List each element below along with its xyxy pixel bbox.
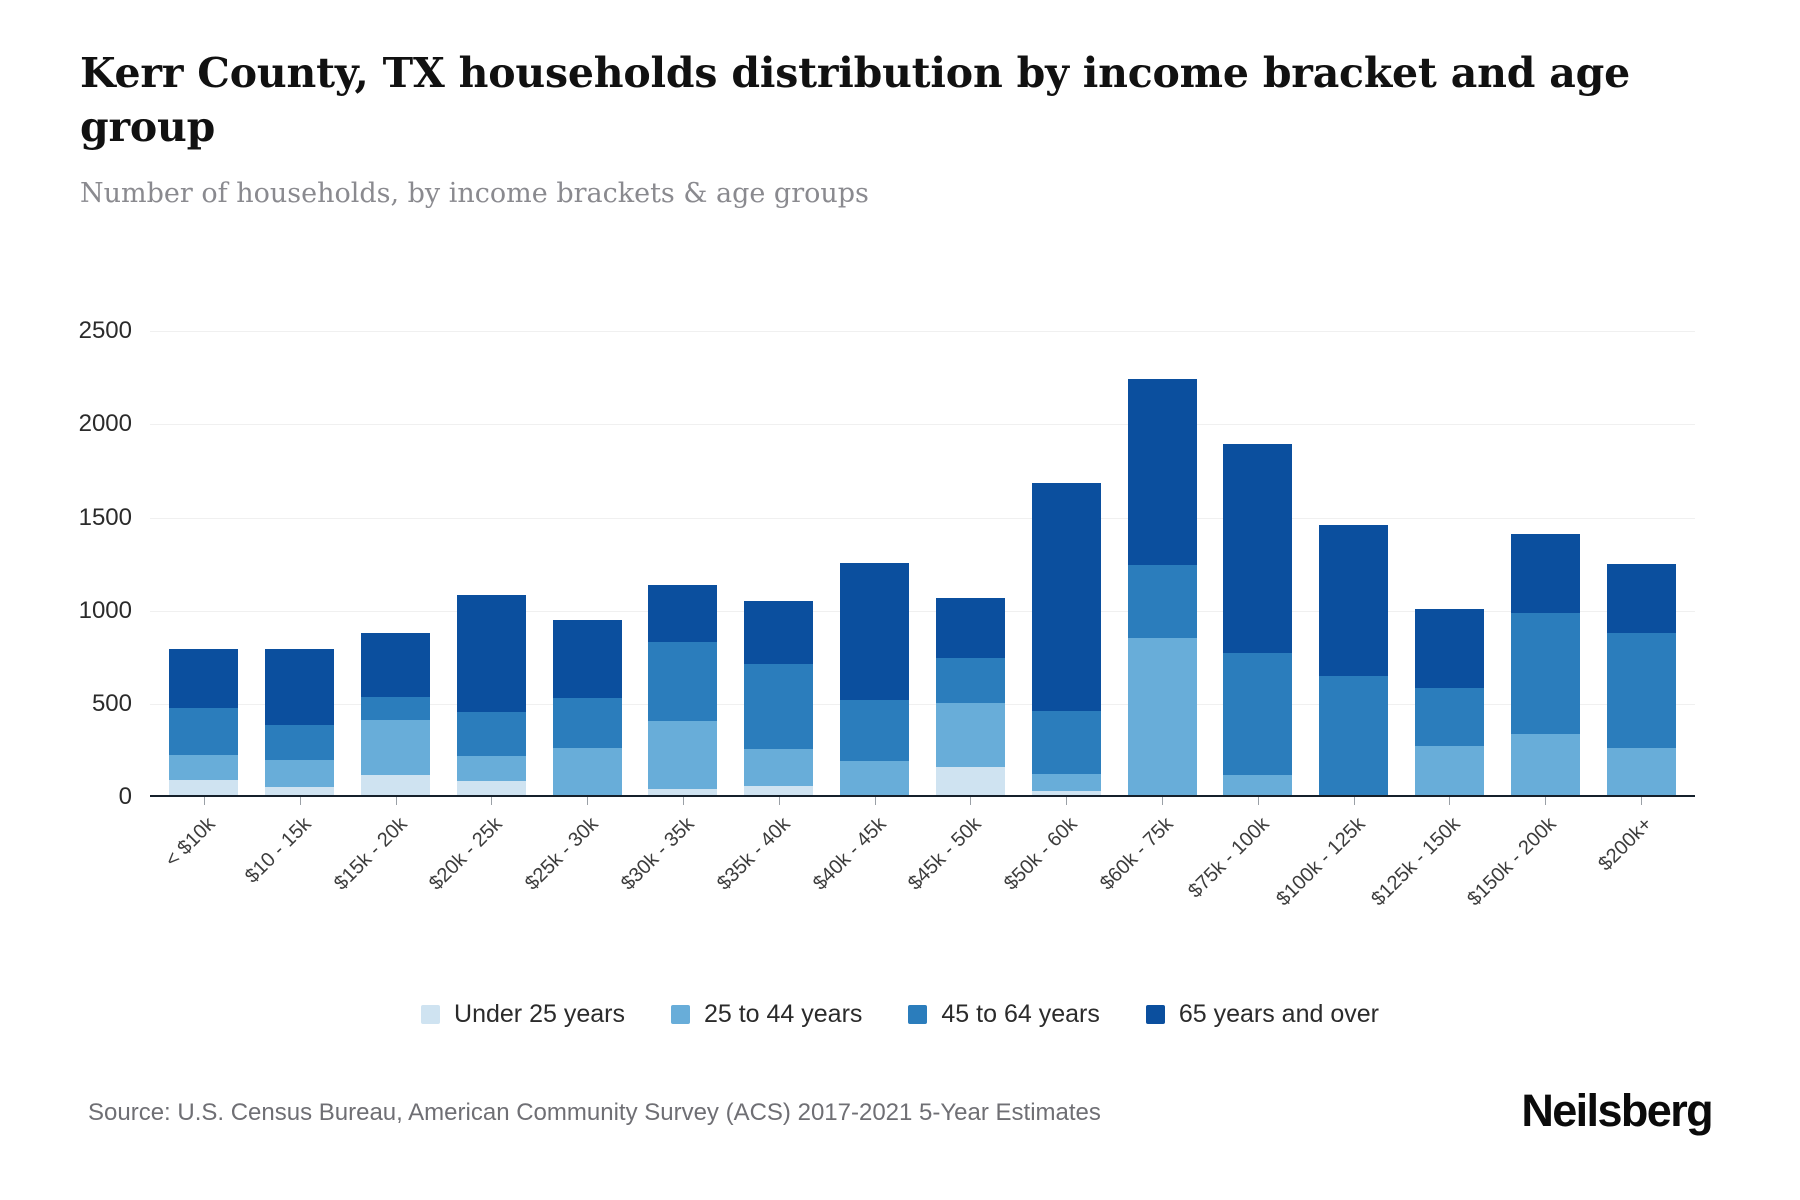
bar-group[interactable] xyxy=(1018,266,1114,795)
x-tick-mark xyxy=(1545,797,1546,805)
x-tick-mark xyxy=(1066,797,1067,805)
x-tick-mark xyxy=(970,797,971,805)
x-tick-group: $40k - 45k xyxy=(827,797,923,917)
chart-header: Kerr County, TX households distribution … xyxy=(80,46,1680,211)
bar-segment[interactable] xyxy=(1415,746,1484,795)
x-tick-mark xyxy=(1162,797,1163,805)
source-note: Source: U.S. Census Bureau, American Com… xyxy=(88,1099,1101,1127)
bar-stack xyxy=(361,633,430,795)
bar-segment[interactable] xyxy=(553,748,622,795)
x-tick-group: $10 - 15k xyxy=(252,797,348,917)
bar-group[interactable] xyxy=(1306,266,1402,795)
x-axis-tick-label: < $10k xyxy=(161,813,220,872)
bar-segment[interactable] xyxy=(1415,688,1484,746)
bar-segment[interactable] xyxy=(648,721,717,789)
bar-segment[interactable] xyxy=(457,712,526,756)
legend-label: 65 years and over xyxy=(1179,1000,1379,1029)
bar-group[interactable] xyxy=(1402,266,1498,795)
chart-footer: Source: U.S. Census Bureau, American Com… xyxy=(0,1085,1800,1155)
legend-label: 25 to 44 years xyxy=(704,1000,862,1029)
y-axis-tick-label: 0 xyxy=(119,783,132,811)
legend-item[interactable]: 25 to 44 years xyxy=(671,1000,862,1029)
x-tick-mark xyxy=(1258,797,1259,805)
x-tick-group: $45k - 50k xyxy=(923,797,1019,917)
bar-group[interactable] xyxy=(923,266,1019,795)
bar-segment[interactable] xyxy=(744,601,813,663)
x-tick-group: $25k - 30k xyxy=(539,797,635,917)
bar-segment[interactable] xyxy=(936,658,1005,703)
bar-segment[interactable] xyxy=(1032,483,1101,711)
bar-segment[interactable] xyxy=(1511,534,1580,613)
bar-segment[interactable] xyxy=(840,761,909,795)
bar-segment[interactable] xyxy=(648,642,717,721)
legend-swatch-icon xyxy=(671,1005,690,1024)
bar-segment[interactable] xyxy=(361,697,430,719)
y-axis-tick-label: 500 xyxy=(92,690,132,718)
bar-segment[interactable] xyxy=(1128,379,1197,565)
x-axis-tick-label: $200k+ xyxy=(1594,813,1657,876)
y-axis-tick-label: 2500 xyxy=(79,317,132,345)
plot-canvas xyxy=(150,266,1695,797)
bar-segment[interactable] xyxy=(553,620,622,698)
legend-swatch-icon xyxy=(908,1005,927,1024)
bar-segment[interactable] xyxy=(1128,565,1197,638)
bar-segment[interactable] xyxy=(169,708,238,755)
bar-segment[interactable] xyxy=(1319,525,1388,676)
bar-group[interactable] xyxy=(156,266,252,795)
bar-segment[interactable] xyxy=(553,698,622,748)
legend-swatch-icon xyxy=(1146,1005,1165,1024)
bar-group[interactable] xyxy=(827,266,923,795)
bar-group[interactable] xyxy=(348,266,444,795)
bar-segment[interactable] xyxy=(648,585,717,642)
bar-segment[interactable] xyxy=(1223,775,1292,795)
bar-segment[interactable] xyxy=(457,595,526,712)
bar-group[interactable] xyxy=(1593,266,1689,795)
bar-stack xyxy=(1607,564,1676,795)
bar-stack xyxy=(1223,444,1292,795)
bar-segment[interactable] xyxy=(265,787,334,795)
bar-segment[interactable] xyxy=(840,700,909,761)
y-axis-tick-label: 2000 xyxy=(79,410,132,438)
bar-segment[interactable] xyxy=(361,720,430,775)
bar-segment[interactable] xyxy=(1607,748,1676,796)
x-tick-mark xyxy=(491,797,492,805)
x-tick-mark xyxy=(300,797,301,805)
x-tick-group: $15k - 20k xyxy=(348,797,444,917)
x-tick-group: $30k - 35k xyxy=(635,797,731,917)
x-tick-mark xyxy=(396,797,397,805)
y-axis-tick-label: 1000 xyxy=(79,597,132,625)
bar-segment[interactable] xyxy=(744,664,813,750)
page-title: Kerr County, TX households distribution … xyxy=(80,46,1670,154)
x-tick-group: $35k - 40k xyxy=(731,797,827,917)
bar-group[interactable] xyxy=(1114,266,1210,795)
bar-segment[interactable] xyxy=(1511,734,1580,795)
chart-subtitle: Number of households, by income brackets… xyxy=(80,176,1680,211)
bar-segment[interactable] xyxy=(936,703,1005,767)
bar-segment[interactable] xyxy=(265,649,334,725)
bar-segment[interactable] xyxy=(169,649,238,709)
bar-segment[interactable] xyxy=(744,749,813,785)
x-axis-tick-labels: < $10k$10 - 15k$15k - 20k$20k - 25k$25k … xyxy=(150,797,1695,917)
bar-segment[interactable] xyxy=(361,775,430,795)
bar-stack xyxy=(648,585,717,795)
bar-segment[interactable] xyxy=(1032,774,1101,792)
bar-segment[interactable] xyxy=(1511,613,1580,733)
bar-group[interactable] xyxy=(635,266,731,795)
x-tick-mark xyxy=(204,797,205,805)
x-tick-mark xyxy=(1641,797,1642,805)
brand-logo: Neilsberg xyxy=(1521,1085,1712,1137)
bar-stack xyxy=(1319,525,1388,795)
y-axis-tick-label: 1500 xyxy=(79,504,132,532)
chart-page: Kerr County, TX households distribution … xyxy=(0,0,1800,1200)
bar-segment[interactable] xyxy=(1223,444,1292,654)
x-tick-mark xyxy=(875,797,876,805)
bar-segment[interactable] xyxy=(1319,676,1388,795)
bar-segment[interactable] xyxy=(1032,711,1101,773)
bar-segment[interactable] xyxy=(744,786,813,795)
bar-segment[interactable] xyxy=(936,767,1005,795)
bar-stack xyxy=(936,598,1005,795)
bar-stack xyxy=(1128,379,1197,795)
bar-segment[interactable] xyxy=(1223,653,1292,774)
bar-segment[interactable] xyxy=(169,755,238,780)
y-axis-tick-labels: 05001000150020002500 xyxy=(0,266,132,797)
bar-segment[interactable] xyxy=(1415,609,1484,688)
legend-item[interactable]: 65 years and over xyxy=(1146,1000,1379,1029)
plot-area: 05001000150020002500 xyxy=(0,250,1800,810)
x-tick-group: $200k+ xyxy=(1593,797,1689,917)
bar-stack xyxy=(744,601,813,795)
bar-segment[interactable] xyxy=(1128,638,1197,795)
legend-swatch-icon xyxy=(421,1005,440,1024)
bar-group[interactable] xyxy=(443,266,539,795)
bar-segment[interactable] xyxy=(169,780,238,795)
bar-stack xyxy=(265,649,334,795)
x-tick-mark xyxy=(587,797,588,805)
bar-group[interactable] xyxy=(539,266,635,795)
bar-group[interactable] xyxy=(252,266,348,795)
legend-item[interactable]: 45 to 64 years xyxy=(908,1000,1099,1029)
bar-segment[interactable] xyxy=(457,756,526,781)
x-tick-group: $20k - 25k xyxy=(443,797,539,917)
bar-group[interactable] xyxy=(1497,266,1593,795)
bar-segment[interactable] xyxy=(361,633,430,697)
bar-stack xyxy=(1032,483,1101,795)
bar-segment[interactable] xyxy=(265,725,334,759)
bar-stack xyxy=(169,649,238,795)
bar-segment[interactable] xyxy=(457,781,526,795)
x-tick-group: $50k - 60k xyxy=(1018,797,1114,917)
legend-item[interactable]: Under 25 years xyxy=(421,1000,625,1029)
bar-series-group xyxy=(150,266,1695,795)
bar-group[interactable] xyxy=(731,266,827,795)
bar-group[interactable] xyxy=(1210,266,1306,795)
bar-stack xyxy=(840,563,909,795)
bar-segment[interactable] xyxy=(936,598,1005,659)
x-tick-group: $150k - 200k xyxy=(1497,797,1593,917)
bar-segment[interactable] xyxy=(1607,633,1676,748)
bar-stack xyxy=(1511,534,1580,795)
x-tick-mark xyxy=(683,797,684,805)
bar-segment[interactable] xyxy=(840,563,909,700)
chart-legend: Under 25 years25 to 44 years45 to 64 yea… xyxy=(0,1000,1800,1029)
x-tick-mark xyxy=(1449,797,1450,805)
bar-segment[interactable] xyxy=(265,760,334,787)
bar-stack xyxy=(457,595,526,795)
legend-label: 45 to 64 years xyxy=(941,1000,1099,1029)
legend-label: Under 25 years xyxy=(454,1000,625,1029)
x-tick-mark xyxy=(779,797,780,805)
x-axis-tick-label: $10 - 15k xyxy=(241,813,316,888)
bar-stack xyxy=(553,620,622,795)
bar-stack xyxy=(1415,609,1484,795)
x-tick-group: < $10k xyxy=(156,797,252,917)
x-tick-mark xyxy=(1354,797,1355,805)
bar-segment[interactable] xyxy=(1607,564,1676,633)
